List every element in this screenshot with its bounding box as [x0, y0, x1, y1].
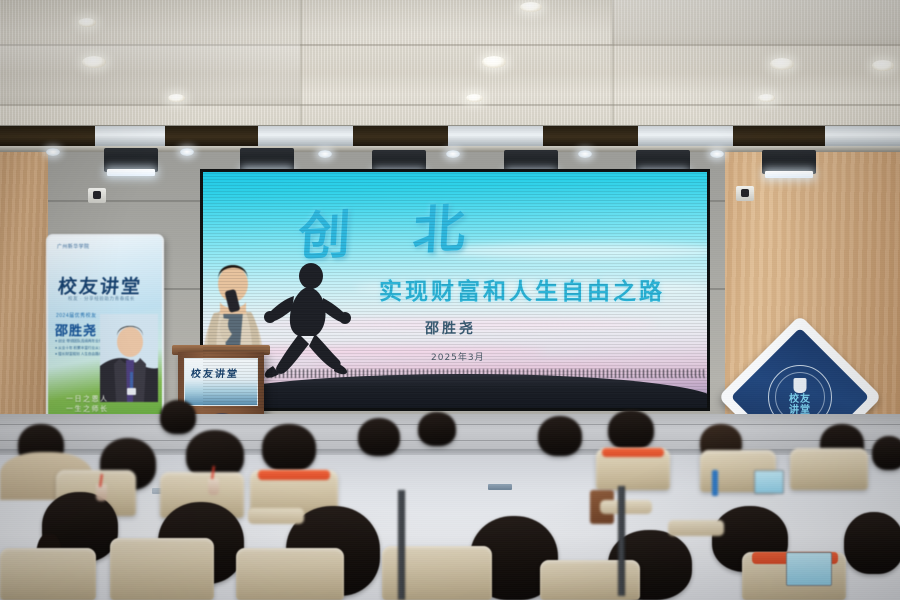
auditorium-photo: 创 北 实现财富和人生自由之路 邵胜尧 2025年3月 广州新华学院 校友讲堂 …	[0, 0, 900, 600]
drink-cup	[96, 484, 107, 501]
ceiling-downlight	[872, 60, 894, 71]
audience-head	[262, 424, 316, 472]
truss-panel	[638, 126, 733, 146]
truss-panel	[165, 126, 258, 146]
seat-armrest	[668, 520, 724, 536]
banner-subtitle: 校友 · 分享经验助力青春成长	[68, 296, 135, 302]
slide-headline: 创 北	[297, 185, 490, 270]
ceiling-seam	[0, 104, 900, 106]
audience-head	[844, 512, 900, 574]
podium-plate-text: 校友讲堂	[190, 365, 253, 380]
floor-outlet-plate	[488, 484, 512, 490]
slide-speaker: 邵胜尧	[425, 318, 476, 338]
truss-panel	[543, 126, 638, 146]
audience-head	[418, 412, 456, 446]
truss-panel	[95, 126, 165, 146]
auditorium-seat	[540, 560, 640, 600]
truss-downlight	[180, 148, 194, 156]
podium-nameplate: 校友讲堂	[184, 358, 258, 406]
ceiling-downlight	[168, 94, 185, 102]
truss-panel	[825, 126, 900, 146]
ceiling-panel	[612, 0, 900, 44]
truss-downlight	[318, 150, 332, 158]
seat-armrest	[600, 500, 652, 514]
truss-panel	[733, 126, 825, 146]
auditorium-seat	[236, 548, 344, 600]
ceiling-downlight	[770, 58, 794, 70]
wall-camera-icon	[88, 188, 106, 203]
seat-cushion	[602, 448, 664, 457]
ceiling-downlight	[466, 94, 483, 102]
auditorium-seat	[110, 538, 214, 600]
truss-downlight	[578, 150, 592, 158]
ceiling-panel	[0, 44, 300, 104]
slide-subtitle: 实现财富和人生自由之路	[379, 272, 665, 306]
truss-downlight	[46, 148, 60, 156]
banner-org-logo: 广州新华学院	[57, 243, 89, 250]
seat-leg	[618, 486, 625, 596]
rollup-banner: 广州新华学院 校友讲堂 校友 · 分享经验助力青春成长 2024届优秀校友 邵胜…	[46, 234, 164, 430]
ceiling-downlight	[758, 94, 775, 102]
drink-cup	[208, 478, 219, 495]
ceiling-downlight	[78, 18, 96, 27]
runner-silhouette-icon	[261, 262, 357, 380]
audience-head	[160, 400, 196, 434]
ceiling-downlight	[520, 2, 542, 12]
truss-panel	[0, 126, 95, 146]
banner-portrait-photo	[100, 314, 158, 402]
banner-title: 校友讲堂	[57, 272, 145, 299]
auditorium-seat	[0, 548, 96, 600]
laptop-screen	[754, 470, 784, 494]
banner-footer-line: 一日之恩人 一生之师长	[66, 394, 109, 414]
audience-head	[538, 416, 582, 456]
stage-spotlight	[762, 150, 816, 174]
led-screen-frame: 创 北 实现财富和人生自由之路 邵胜尧 2025年3月	[200, 169, 710, 411]
truss-panel	[448, 126, 543, 146]
seat-cushion	[258, 470, 330, 480]
laptop-screen	[786, 552, 832, 586]
truss-downlight	[446, 150, 460, 158]
banner-speaker-name: 邵胜尧	[55, 320, 97, 339]
truss-panel	[258, 126, 353, 146]
stage-spotlight	[104, 148, 158, 172]
banner-tag: 2024届优秀校友	[56, 312, 97, 319]
ceiling-downlight	[82, 56, 106, 68]
slide-date: 2025年3月	[431, 350, 485, 363]
lanyard	[712, 470, 718, 496]
audience-head	[358, 418, 400, 456]
seal-crest-icon	[794, 378, 807, 393]
presentation-slide: 创 北 实现财富和人生自由之路 邵胜尧 2025年3月	[203, 172, 707, 408]
auditorium-seat	[790, 448, 868, 490]
seat-armrest	[248, 508, 304, 524]
wall-camera-icon	[736, 186, 754, 201]
seal-text: 校友 讲堂	[789, 394, 811, 416]
audience-head	[608, 410, 654, 450]
audience-head	[872, 436, 900, 470]
ceiling-downlight	[482, 56, 506, 68]
seat-leg	[398, 490, 405, 600]
truss-downlight	[710, 150, 724, 158]
truss-panel	[353, 126, 448, 146]
